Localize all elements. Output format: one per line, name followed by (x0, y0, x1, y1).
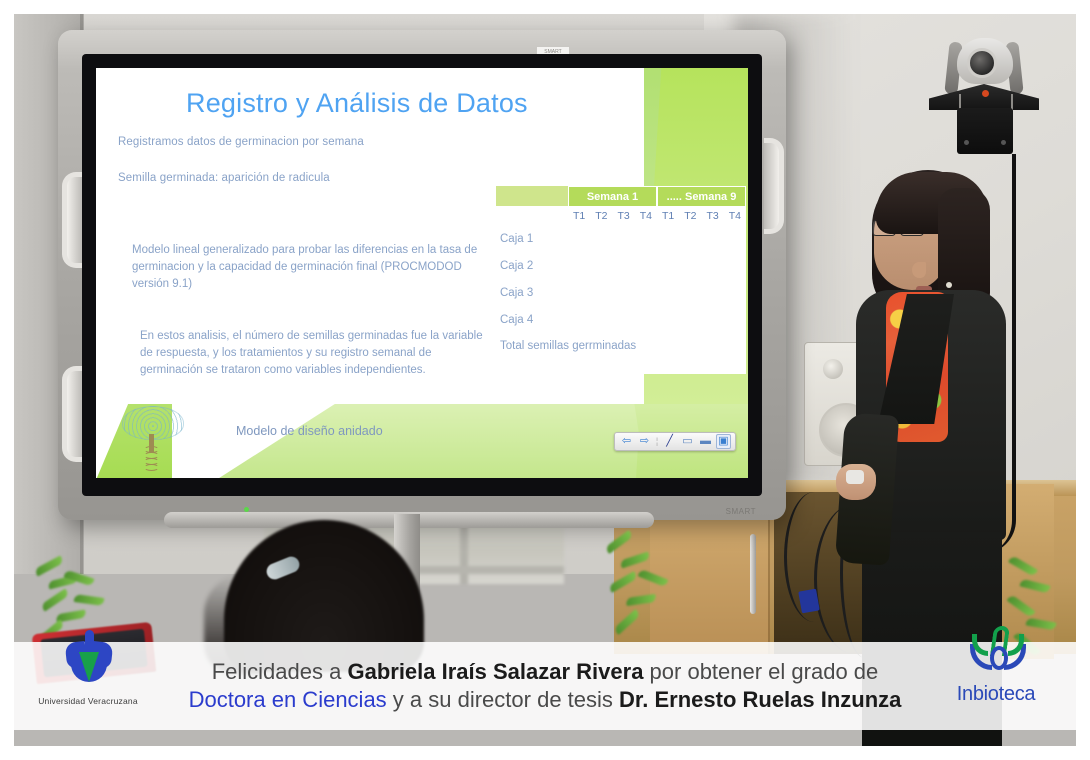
slide-data-table: Semana 1 ..... Semana 9 T1 T2 T3 T4 (496, 186, 746, 374)
slide-footer-label: Modelo de diseño anidado (236, 424, 383, 438)
photo-inner: SMART SMART Registro y Anál (14, 14, 1076, 746)
table-group-header-row: Semana 1 ..... Semana 9 (496, 186, 746, 206)
table-corner-cell (496, 186, 568, 206)
smartboard-brand: SMART (726, 507, 756, 516)
next-slide-button[interactable]: ⇨ (637, 434, 652, 449)
advisor-name: Dr. Ernesto Ruelas Inzunza (619, 687, 901, 712)
graduate-name: Gabriela Iraís Salazar Rivera (347, 659, 643, 684)
table-subheader-row: T1 T2 T3 T4 T1 T2 T3 T4 (496, 206, 746, 226)
smartboard[interactable]: SMART SMART Registro y Anál (58, 30, 786, 520)
table-group-header-semana1: Semana 1 (568, 186, 657, 206)
green-v-icon (79, 652, 99, 682)
table-body: Caja 1 Caja 2 Caja 3 Caja 4 Total semill… (496, 226, 746, 374)
uv-logo-caption: Universidad Veracruzana (36, 696, 140, 706)
smartboard-handle-left-upper[interactable] (62, 172, 82, 268)
caption-line-2: Doctora en Ciencias y a su director de t… (14, 686, 1076, 714)
table-row: Caja 4 (496, 307, 746, 334)
smartboard-handle-left-lower[interactable] (62, 366, 82, 462)
table-subheader-cell: T4 (729, 210, 741, 222)
fleur-de-lis-icon (66, 630, 112, 680)
degree-title: Doctora en Ciencias (189, 687, 387, 712)
table-row-total: Total semillas gerrminadas (496, 334, 746, 374)
table-subheader-cell: T1 (662, 210, 674, 222)
table-subheader-cell: T4 (640, 210, 652, 222)
table-subheaders-group2: T1 T2 T3 T4 (657, 206, 746, 226)
table-row: Caja 1 (496, 226, 746, 253)
table-subheaders-group1: T1 T2 T3 T4 (568, 206, 657, 226)
table-row: Caja 3 (496, 280, 746, 307)
cabinet-handle (750, 534, 756, 614)
smartboard-handle-right[interactable] (764, 138, 784, 234)
slide-bullet-1: Registramos datos de germinacion por sem… (118, 136, 364, 148)
inbioteca-logo-text: Inbioteca (938, 683, 1054, 706)
table-subheader-cell: T2 (595, 210, 607, 222)
slide-paragraph-1: Modelo lineal generalizado para probar l… (132, 242, 482, 293)
caption-line1-pre: Felicidades a (212, 659, 348, 684)
slideshow-menu-button[interactable]: ▣ (716, 434, 731, 449)
table-subheader-cell: T3 (617, 210, 629, 222)
table-group-header-semana9: ..... Semana 9 (657, 186, 746, 206)
table-row: Caja 2 (496, 253, 746, 280)
slideshow-toolbar[interactable]: ⇦ ⇨ ¦ ╱ ▭ ▬ ▣ (614, 432, 736, 451)
photo-canvas: SMART SMART Registro y Anál (0, 0, 1090, 760)
presentation-slide[interactable]: Registro y Análisis de Datos Registramos… (96, 68, 748, 478)
presentation-clicker[interactable] (846, 470, 864, 484)
toolbar-separator: ¦ (655, 434, 659, 449)
videoconference-camera (929, 36, 1039, 156)
camera-lens-icon (967, 48, 997, 78)
caption-line-1: Felicidades a Gabriela Iraís Salazar Riv… (14, 658, 1076, 686)
caption-bar: Universidad Veracruzana Felicidades a Ga… (14, 642, 1076, 730)
caption-line2-mid: y a su director de tesis (387, 687, 619, 712)
polycom-logo-icon (982, 90, 989, 97)
caption-text-block: Felicidades a Gabriela Iraís Salazar Riv… (14, 658, 1076, 714)
previous-slide-button[interactable]: ⇦ (619, 434, 634, 449)
vga-connector (798, 589, 820, 614)
caption-line1-post: por obtener el grado de (643, 659, 878, 684)
slide-title: Registro y Análisis de Datos (186, 88, 528, 119)
table-subheader-cell: T3 (706, 210, 718, 222)
table-subheader-cell: T1 (573, 210, 585, 222)
camera-wall-mount (957, 108, 1013, 154)
screen-options-button[interactable]: ▭ (680, 434, 695, 449)
universidad-veracruzana-logo: Universidad Veracruzana (36, 630, 140, 708)
pen-tool-button[interactable]: ╱ (662, 434, 677, 449)
smartboard-screen[interactable]: Registro y Análisis de Datos Registramos… (96, 68, 748, 478)
tree-dna-emblem-icon (118, 406, 188, 472)
presenter-earring (946, 282, 952, 288)
smartboard-bezel: Registro y Análisis de Datos Registramos… (82, 54, 762, 496)
slide-paragraph-2: En estos analisis, el número de semillas… (140, 328, 490, 379)
slide-bullet-2: Semilla germinada: aparición de radicula (118, 172, 330, 184)
inbioteca-logo: Inbioteca (938, 626, 1054, 710)
table-subheader-cell: T2 (684, 210, 696, 222)
inbioteca-mark-icon (970, 626, 1026, 676)
blank-screen-button[interactable]: ▬ (698, 434, 713, 449)
